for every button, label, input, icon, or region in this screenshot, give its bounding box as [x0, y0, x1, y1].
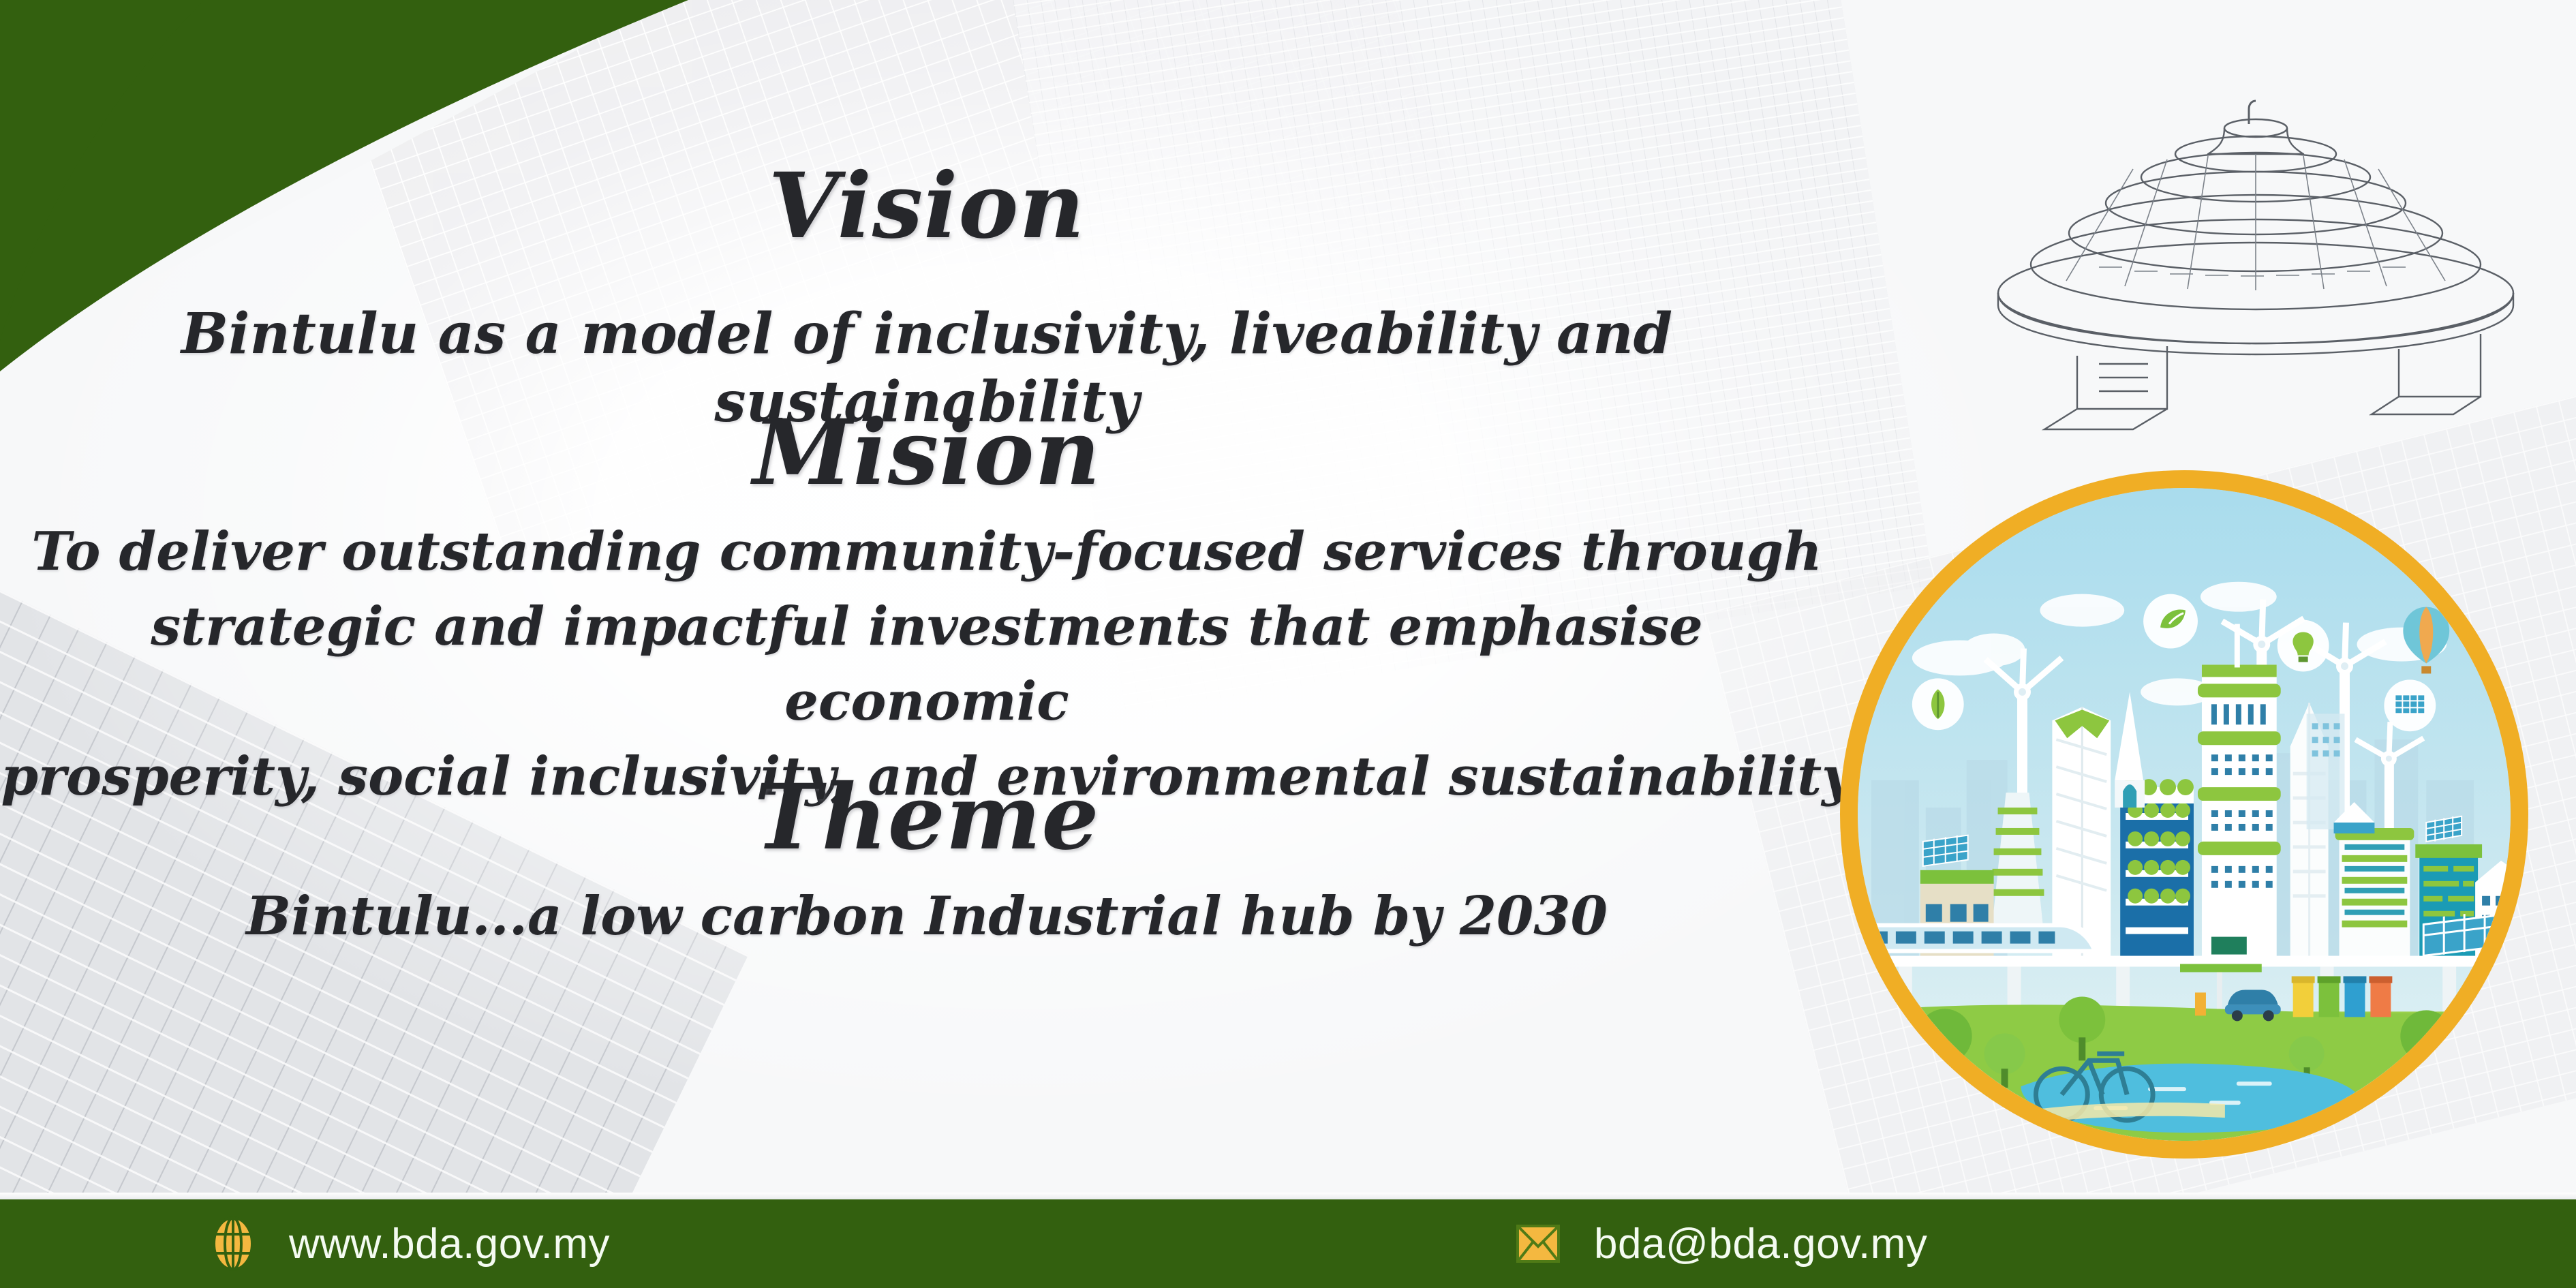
footer-email[interactable]: bda@bda.gov.my [1509, 1215, 1927, 1272]
mission-heading: Mision [0, 402, 1854, 504]
theme-statement: Bintulu...a low carbon Industrial hub by… [0, 883, 1854, 951]
mission-line-1: To deliver outstanding community-focused… [0, 515, 1854, 589]
email-label[interactable]: bda@bda.gov.my [1594, 1220, 1927, 1268]
footer-divider [0, 1193, 2576, 1199]
website-label[interactable]: www.bda.gov.my [289, 1220, 610, 1268]
footer-website[interactable]: www.bda.gov.my [204, 1215, 610, 1272]
eco-icon-bubble [2278, 620, 2329, 672]
dome-building-line-art [1963, 89, 2556, 450]
theme-heading: Theme [0, 767, 1854, 869]
monorail-train [1858, 923, 2102, 953]
text-content: Vision Bintulu as a model of inclusivity… [0, 0, 1854, 1199]
green-city-scene [1858, 488, 2511, 1141]
mission-line-2: strategic and impactful investments that… [0, 589, 1854, 739]
footer-bar: www.bda.gov.my bda@bda.gov.my [0, 1199, 2576, 1288]
solar-panel-bubble [2384, 679, 2436, 731]
banner-root: Vision Bintulu as a model of inclusivity… [0, 0, 2576, 1288]
eco-icon-bubble [2143, 594, 2198, 649]
green-city-illustration [1840, 470, 2528, 1159]
envelope-icon [1509, 1215, 1567, 1272]
eco-icon-bubble [1912, 678, 1964, 730]
vision-heading: Vision [0, 155, 1854, 258]
globe-icon [204, 1215, 262, 1272]
